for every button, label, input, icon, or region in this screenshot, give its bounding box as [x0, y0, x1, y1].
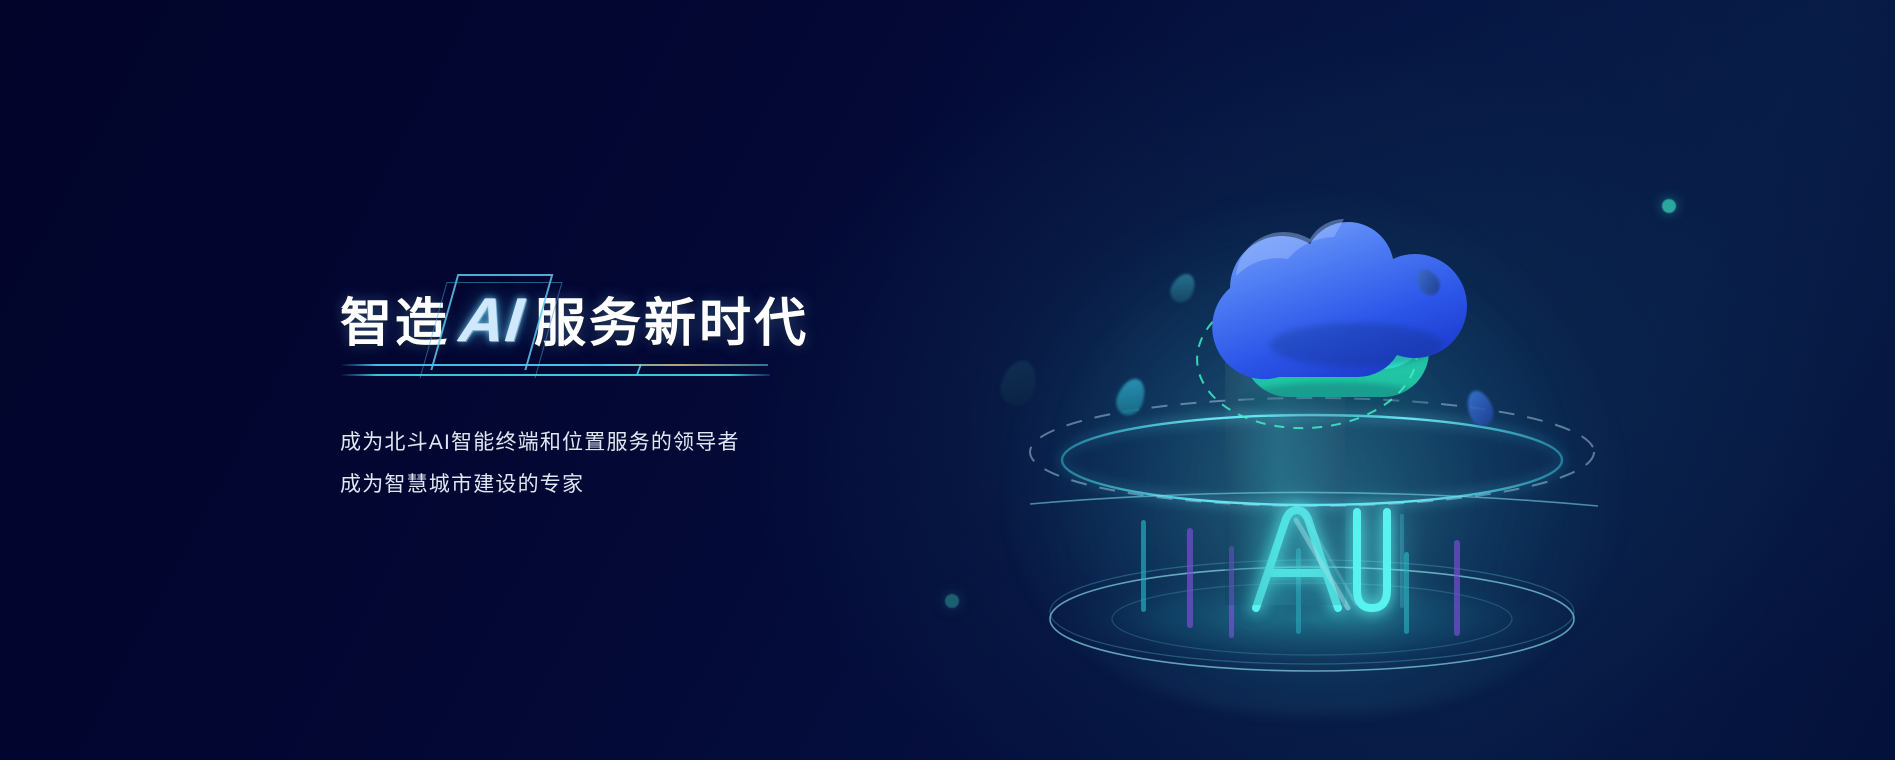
- hero-banner: 智造AI服务新时代 成为北斗AI智能终端和位置服务的领导者 成为智慧城市建设的专…: [0, 0, 1895, 760]
- headline-prefix: 智造: [340, 295, 450, 353]
- particle-dot-right: [1662, 199, 1676, 213]
- headline-accent-lines: [340, 362, 770, 388]
- page-title: 智造AI服务新时代: [340, 290, 900, 352]
- accent-line-3: [568, 364, 768, 366]
- particle-dot-left: [945, 594, 959, 608]
- illustration-svg: [0, 0, 1895, 760]
- headline-suffix: 服务新时代: [534, 295, 809, 353]
- hero-subtitle-line-1: 成为北斗AI智能终端和位置服务的领导者: [340, 422, 900, 464]
- accent-line-4: [568, 374, 770, 376]
- hero-text-block: 智造AI服务新时代 成为北斗AI智能终端和位置服务的领导者 成为智慧城市建设的专…: [340, 290, 900, 506]
- hero-subtitle-line-2: 成为智慧城市建设的专家: [340, 464, 900, 506]
- background-glow-inner: [1060, 250, 1560, 680]
- headline-ai-mark: AI: [451, 290, 534, 352]
- hero-illustration: [0, 0, 1895, 760]
- particle-teardrop-5: [996, 356, 1043, 410]
